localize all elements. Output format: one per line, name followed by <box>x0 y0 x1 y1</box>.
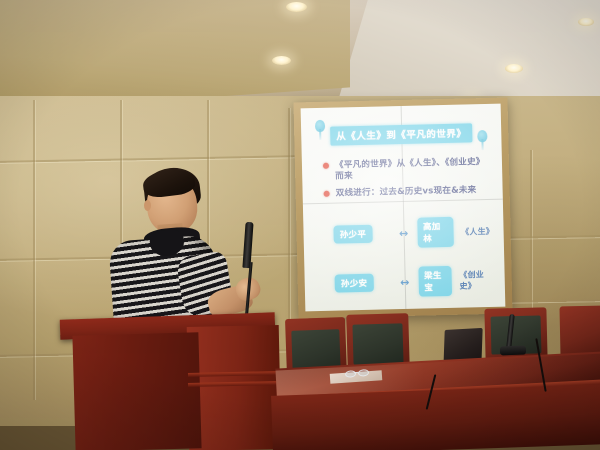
wall-seam <box>288 108 290 348</box>
pair-note: 《人生》 <box>461 225 491 237</box>
slide-title: 从《人生》到《平凡的世界》 <box>301 121 501 147</box>
downlight-2 <box>272 56 291 65</box>
projection-screen: 从《人生》到《平凡的世界》 《平凡的世界》从《人生》、《创业史》而来 双线进行：… <box>301 104 506 312</box>
speaker-ear <box>144 200 151 211</box>
slide-bullet: 双线进行：过去&历史vs现在&未来 <box>324 185 491 200</box>
lecture-hall-photo: 从《人生》到《平凡的世界》 《平凡的世界》从《人生》、《创业史》而来 双线进行：… <box>0 0 600 450</box>
wall-seam <box>530 150 532 320</box>
pair-left-chip: 孙少平 <box>334 225 373 244</box>
bullet-dot-icon <box>324 191 330 197</box>
downlight-5 <box>578 18 594 26</box>
downlight-3 <box>505 64 523 73</box>
slide-bullet: 《平凡的世界》从《人生》、《创业史》而来 <box>323 157 490 182</box>
slide-bullet-list: 《平凡的世界》从《人生》、《创业史》而来 双线进行：过去&历史vs现在&未来 <box>323 157 491 207</box>
microphone-base <box>500 346 526 356</box>
slide-title-text: 从《人生》到《平凡的世界》 <box>330 123 472 145</box>
chair-back <box>559 306 600 357</box>
slide-bullet-text: 《平凡的世界》从《人生》、《创业史》而来 <box>335 157 490 182</box>
podium-front <box>72 332 201 450</box>
conference-desk-front <box>271 384 600 450</box>
projection-screen-frame: 从《人生》到《平凡的世界》 《平凡的世界》从《人生》、《创业史》而来 双线进行：… <box>293 98 512 319</box>
slide-pair-row: 孙少平 ↔ 高加林 《人生》 <box>303 216 504 251</box>
pair-right-chip: 高加林 <box>417 217 454 248</box>
wall-seam <box>33 100 35 400</box>
pair-note: 《创业史》 <box>459 269 492 292</box>
pair-left-chip: 孙少安 <box>335 274 374 293</box>
double-arrow-icon: ↔ <box>399 227 408 238</box>
pair-right-chip: 梁生宝 <box>418 266 452 297</box>
slide-pair-row: 孙少安 ↔ 梁生宝 《创业史》 <box>304 265 505 300</box>
slide-pair-table: 孙少平 ↔ 高加林 《人生》 孙少安 ↔ 梁生宝 《创业史》 <box>303 216 505 312</box>
bullet-dot-icon <box>323 163 329 169</box>
double-arrow-icon: ↔ <box>400 276 409 287</box>
downlight-1 <box>286 2 307 12</box>
slide-bullet-text: 双线进行：过去&历史vs现在&未来 <box>336 186 477 200</box>
chair-cushion <box>352 323 403 364</box>
eyeglasses-icon <box>345 369 367 377</box>
